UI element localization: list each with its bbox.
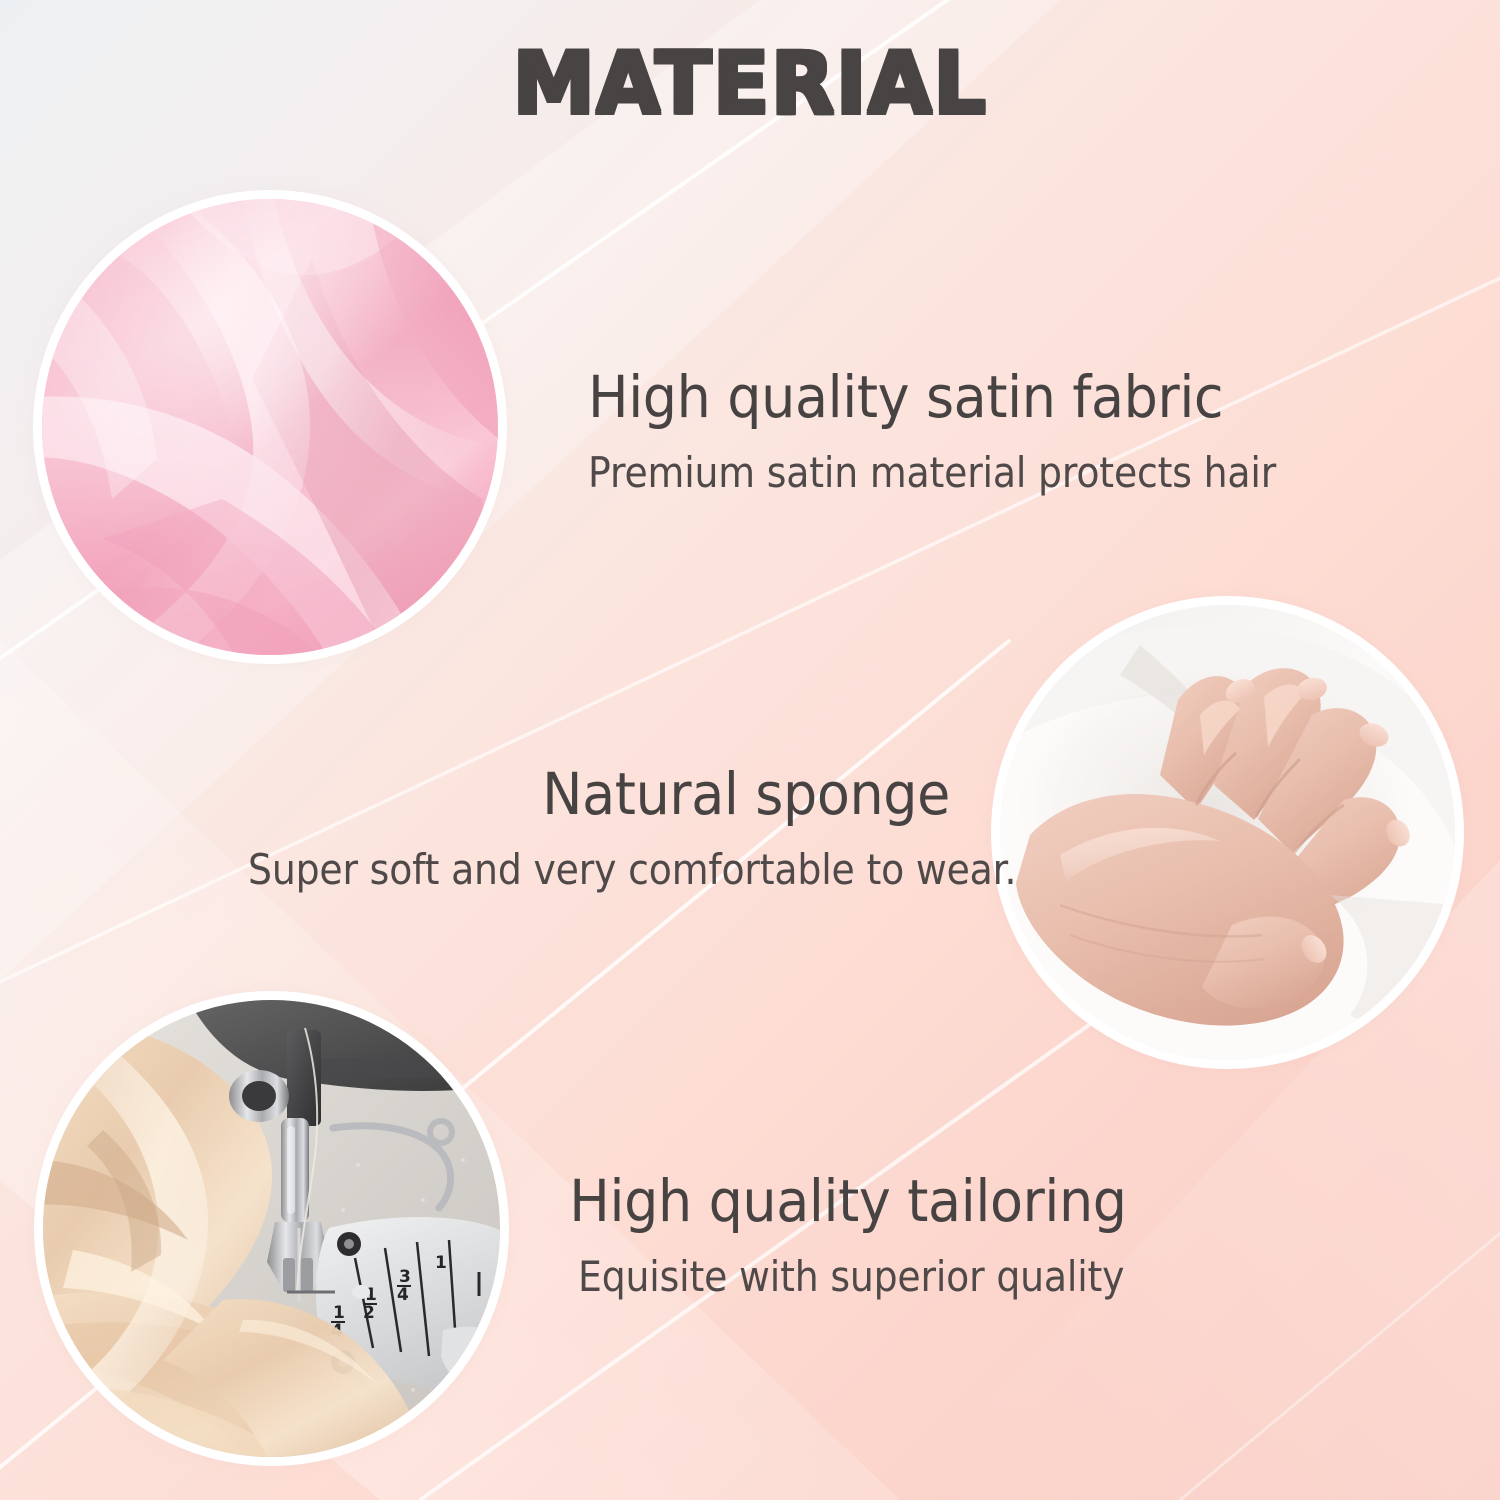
infographic-canvas: MATERIAL [0, 0, 1500, 1500]
feature-text-satin-fabric: High quality satin fabric Premium satin … [588, 368, 1348, 494]
feature-text-natural-sponge: Natural sponge Super soft and very comfo… [170, 765, 950, 891]
feature-subtitle-quality-tailoring: Equisite with superior quality [578, 1256, 1118, 1298]
feature-subtitle-natural-sponge: Super soft and very comfortable to wear. [248, 849, 950, 891]
feature-image-natural-sponge [1000, 605, 1455, 1060]
feature-image-quality-tailoring: 1 4 1 2 3 4 1 [43, 1000, 500, 1457]
feature-text-quality-tailoring: High quality tailoring Equisite with sup… [548, 1172, 1148, 1298]
feature-title-quality-tailoring: High quality tailoring [569, 1172, 1127, 1230]
feature-title-satin-fabric: High quality satin fabric [588, 368, 1295, 426]
feature-image-satin-fabric [42, 199, 498, 655]
feature-subtitle-satin-fabric: Premium satin material protects hair [588, 452, 1272, 494]
feature-title-natural-sponge: Natural sponge [225, 765, 950, 823]
svg-text:3: 3 [399, 1267, 411, 1287]
svg-text:1: 1 [435, 1253, 447, 1273]
page-title: MATERIAL [30, 34, 1470, 134]
svg-text:1: 1 [333, 1303, 345, 1323]
svg-text:4: 4 [397, 1285, 409, 1305]
svg-text:2: 2 [363, 1303, 375, 1323]
